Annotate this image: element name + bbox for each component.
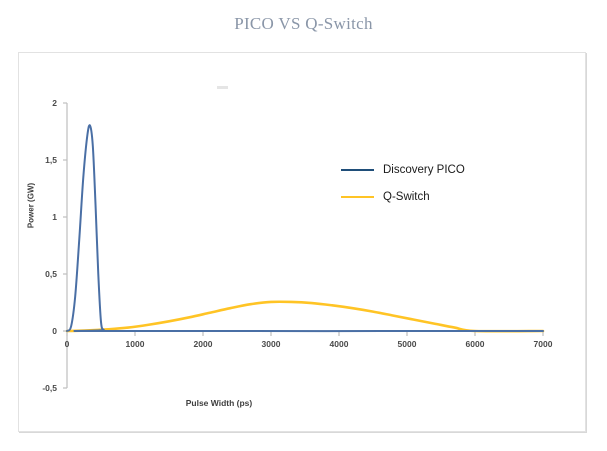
x-tick-label: 4000 <box>319 339 359 349</box>
y-tick-label: 1 <box>29 212 57 222</box>
legend-swatch-q-switch <box>341 196 374 198</box>
legend: Discovery PICO Q-Switch <box>341 156 465 210</box>
x-tick-label: 3000 <box>251 339 291 349</box>
x-tick-label: 6000 <box>455 339 495 349</box>
plot-area <box>19 53 585 431</box>
chart-frame: Power (GW) Pulse Width (ps) Discovery PI… <box>18 52 586 432</box>
x-tick-label: 7000 <box>523 339 563 349</box>
y-tick-label: 2 <box>29 98 57 108</box>
x-axis-title: Pulse Width (ps) <box>149 398 289 408</box>
y-tick-label: 0 <box>29 326 57 336</box>
legend-swatch-discovery-pico <box>341 169 374 171</box>
legend-item-q-switch: Q-Switch <box>341 183 465 210</box>
chart-title: PICO VS Q-Switch <box>0 14 607 34</box>
legend-label-q-switch: Q-Switch <box>383 191 430 203</box>
y-axis-title: Power (GW) <box>27 176 36 236</box>
x-tick-label: 5000 <box>387 339 427 349</box>
y-tick-label: 1,5 <box>29 155 57 165</box>
x-tick-label: 0 <box>47 339 87 349</box>
legend-item-discovery-pico: Discovery PICO <box>341 156 465 183</box>
plot-svg <box>19 53 587 433</box>
y-tick-label: -0,5 <box>29 383 57 393</box>
x-tick-label: 2000 <box>183 339 223 349</box>
y-tick-label: 0,5 <box>29 269 57 279</box>
x-tick-label: 1000 <box>115 339 155 349</box>
legend-label-discovery-pico: Discovery PICO <box>383 164 465 176</box>
